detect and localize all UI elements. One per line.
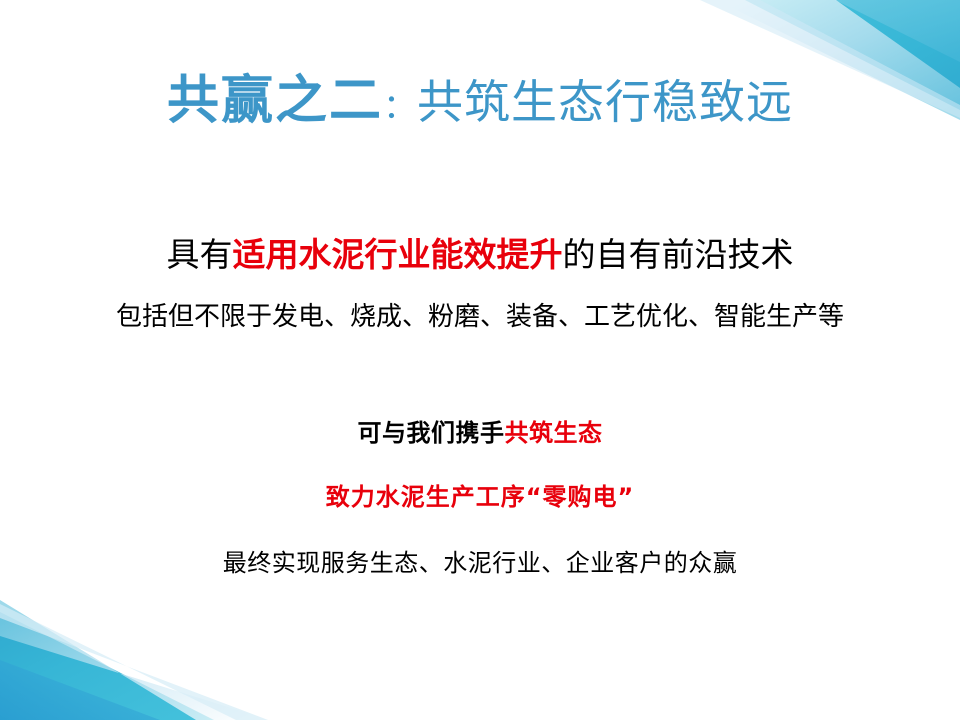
- body-line-5-prefix: 最终实现服务生态、水泥行业、企业客户的: [223, 549, 689, 577]
- body-line-5-emphasis: 众赢: [688, 549, 737, 577]
- body-line-1-suffix: 的自有前沿技术: [563, 235, 794, 274]
- ribbon-bottom-left: [0, 600, 270, 720]
- body-line-2-text: 包括但不限于发电、烧成、粉磨、装备、工艺优化、智能生产等: [116, 302, 844, 332]
- body-line-4: 致力水泥生产工序“零购电”: [0, 480, 960, 514]
- body-line-3: 可与我们携手共筑生态: [0, 416, 960, 450]
- body-line-1-emphasis: 适用水泥行业能效提升: [233, 235, 563, 274]
- body-line-3-prefix: 可与我们携手: [358, 419, 505, 447]
- slide-title: 共赢之二：共筑生态行稳致远: [0, 58, 960, 133]
- body-line-2: 包括但不限于发电、烧成、粉磨、装备、工艺优化、智能生产等: [0, 297, 960, 337]
- slide-canvas: 共赢之二：共筑生态行稳致远 具有适用水泥行业能效提升的自有前沿技术 包括但不限于…: [0, 0, 960, 720]
- body-line-1: 具有适用水泥行业能效提升的自有前沿技术: [0, 233, 960, 277]
- body-line-3-emphasis: 共筑生态: [505, 419, 603, 447]
- body-group-lower: 可与我们携手共筑生态 致力水泥生产工序“零购电” 最终实现服务生态、水泥行业、企…: [0, 416, 960, 580]
- body-line-1-prefix: 具有: [167, 235, 233, 274]
- body-line-4-text: 致力水泥生产工序“零购电”: [326, 483, 635, 511]
- title-main-text: 共赢之二: [167, 70, 383, 131]
- title-sub-text: 共筑生态行稳致远: [417, 75, 793, 129]
- body-group-upper: 具有适用水泥行业能效提升的自有前沿技术 包括但不限于发电、烧成、粉磨、装备、工艺…: [0, 233, 960, 337]
- title-separator: ：: [383, 87, 417, 127]
- body-line-5: 最终实现服务生态、水泥行业、企业客户的众赢: [0, 546, 960, 580]
